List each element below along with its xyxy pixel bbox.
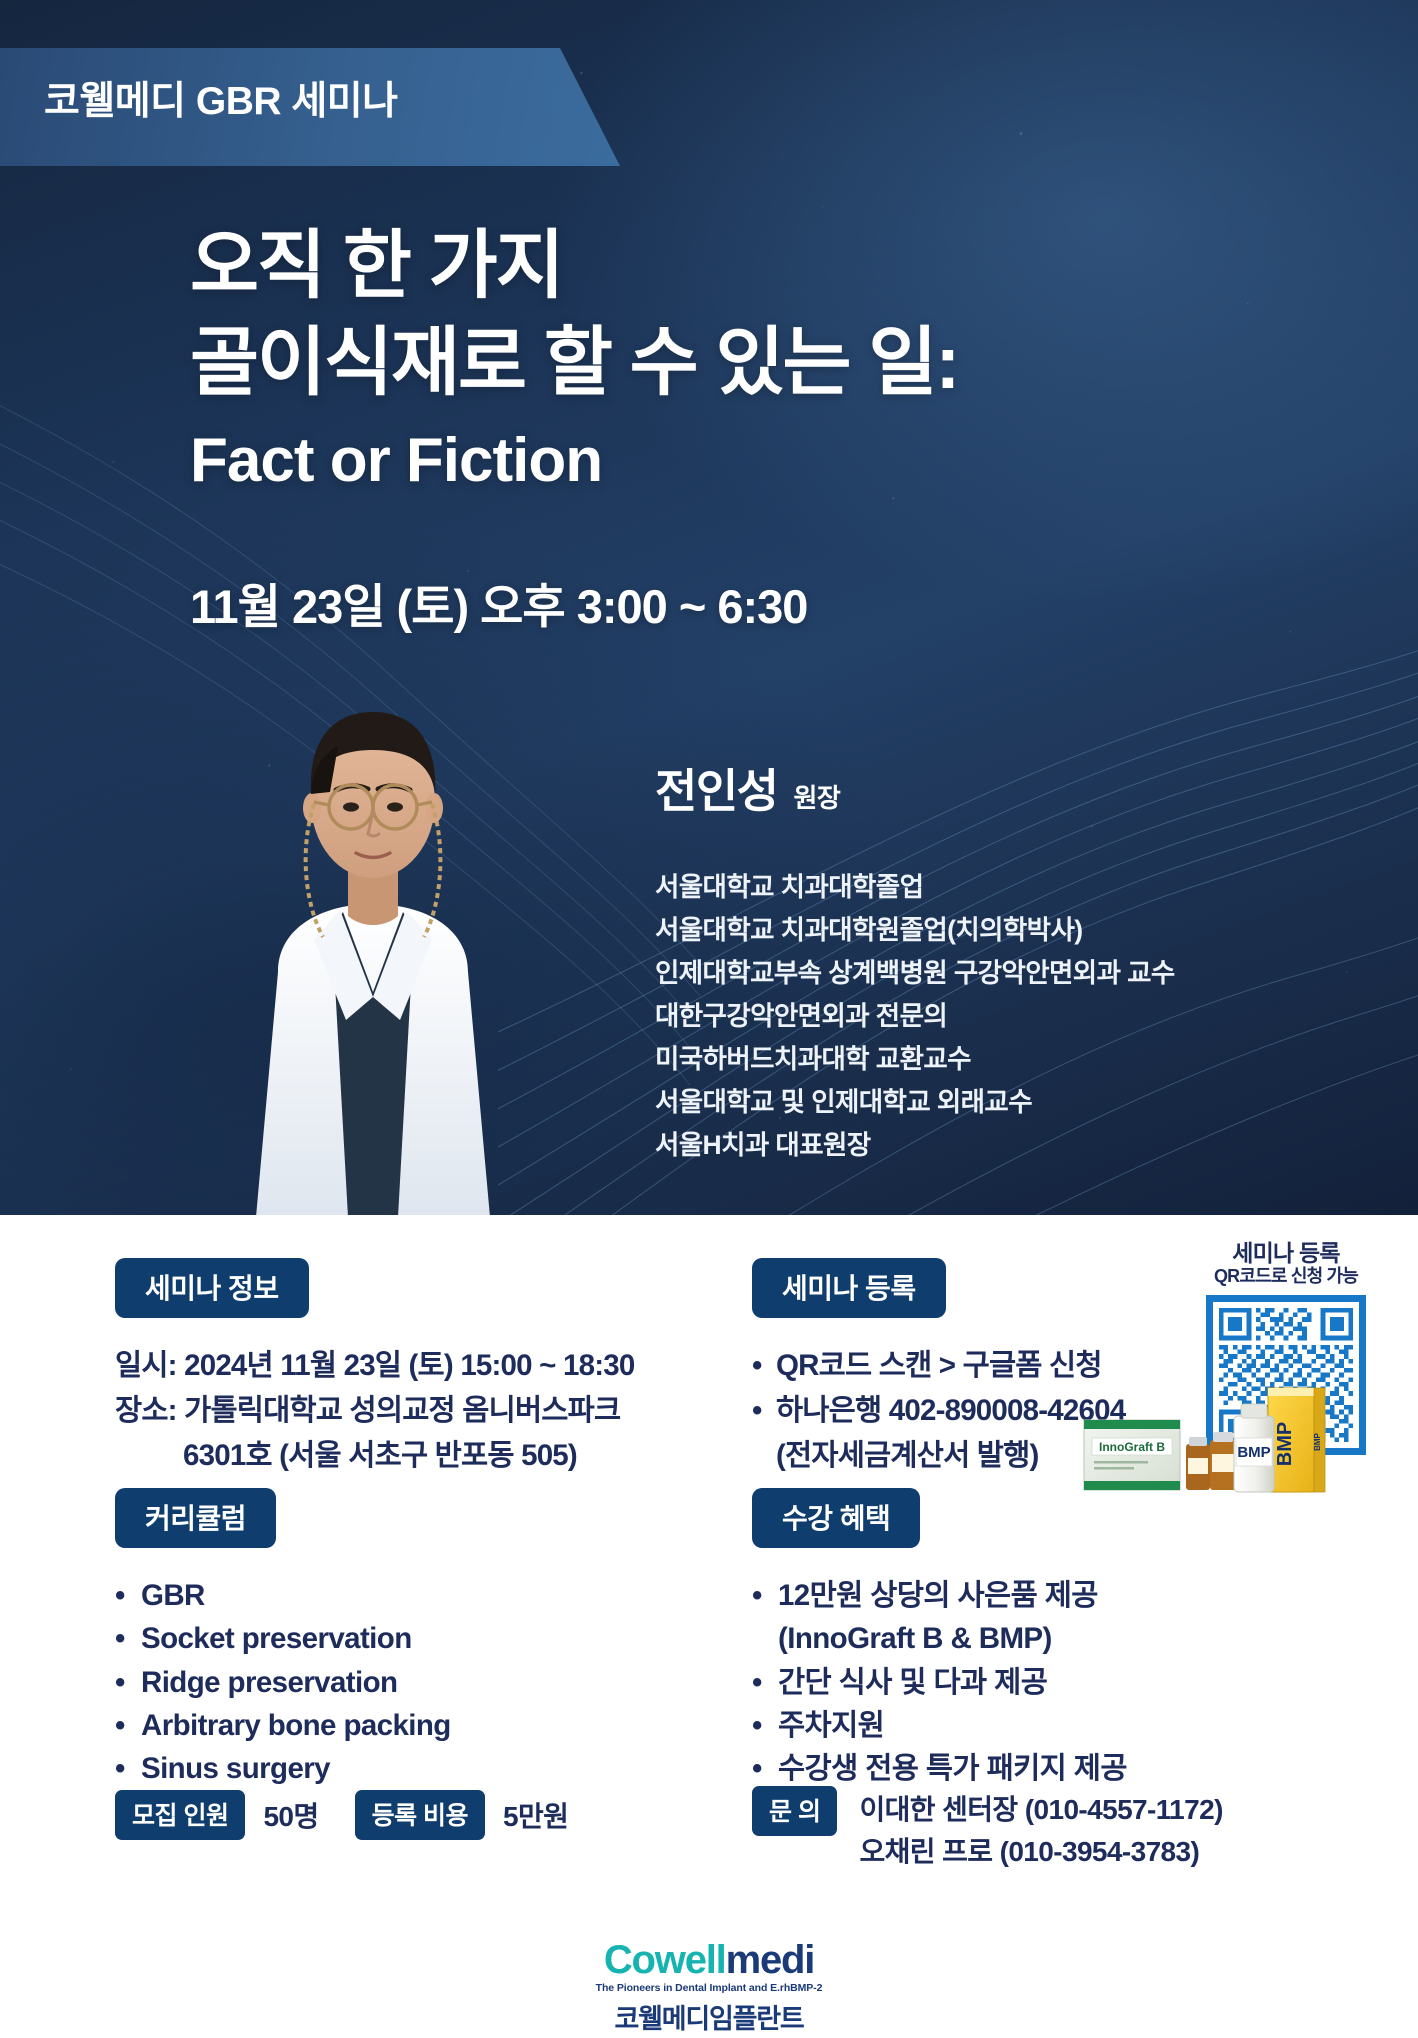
registration-lines: • QR코드 스캔 > 구글폼 신청 • 하나은행 402-890008-426…: [752, 1344, 1125, 1478]
poster-date-time: 11월 23일 (토) 오후 3:00 ~ 6:30: [190, 568, 807, 637]
speaker-profile: 전인성 원장 서울대학교 치과대학졸업 서울대학교 치과대학원졸업(치의학박사)…: [655, 755, 1175, 1166]
benefits-item-label: 주차지원: [778, 1704, 884, 1747]
curriculum-item: • Ridge preservation: [115, 1661, 451, 1704]
credential-item: 대한구강악안면외과 전문의: [655, 995, 1175, 1038]
poster-title-line-1: 오직 한 가지: [190, 228, 563, 303]
svg-text:BMP: BMP: [1313, 1432, 1322, 1450]
benefits-subnote: (InnoGraft B & BMP): [752, 1617, 1127, 1660]
bmp-vials: [1186, 1432, 1236, 1490]
registration-item-label: QR코드 스캔 > 구글폼 신청: [776, 1344, 1102, 1389]
benefits-item-label: 12만원 상당의 사은품 제공: [778, 1574, 1098, 1617]
seminar-venue-line: 장소: 가톨릭대학교 성의교정 옴니버스파크: [115, 1389, 634, 1434]
seminar-info-heading: 세미나 정보: [115, 1258, 309, 1318]
registration-heading: 세미나 등록: [752, 1258, 946, 1318]
speaker-name-row: 전인성 원장: [655, 755, 1175, 821]
capacity-badge-value: 50명: [263, 1795, 318, 1835]
curriculum-item: • Sinus surgery: [115, 1747, 451, 1790]
speaker-photo: [218, 672, 528, 1215]
badges-row: 모집 인원 50명 등록 비용 5만원: [115, 1790, 586, 1840]
curriculum-item-label: Arbitrary bone packing: [141, 1704, 451, 1747]
bullet-icon: •: [115, 1704, 141, 1747]
registration-subnote-label: (전자세금계산서 발행): [776, 1434, 1039, 1479]
credential-item: 미국하버드치과대학 교환교수: [655, 1038, 1175, 1081]
curriculum-item: • Arbitrary bone packing: [115, 1704, 451, 1747]
bullet-icon: •: [752, 1574, 778, 1617]
fee-badge-label: 등록 비용: [355, 1790, 485, 1840]
bmp-bottle: BMP: [1234, 1404, 1274, 1492]
brand-logo-wordmark: Cowellmedi: [0, 1940, 1418, 1980]
curriculum-item: • Socket preservation: [115, 1617, 451, 1660]
brand-logo-korean: 코웰메디임플란트: [0, 1997, 1418, 2036]
registration-item-label: 하나은행 402-890008-42604: [776, 1389, 1125, 1434]
benefits-item: • 12만원 상당의 사은품 제공: [752, 1574, 1127, 1617]
brand-tagline: The Pioneers in Dental Implant and E.rhB…: [0, 1982, 1418, 1994]
bullet-icon: •: [752, 1344, 776, 1389]
svg-text:BMP: BMP: [1237, 1444, 1270, 1461]
benefits-item-label: 간단 식사 및 다과 제공: [778, 1661, 1047, 1704]
credential-item: 서울대학교 치과대학졸업: [655, 866, 1175, 909]
contact-person-2[interactable]: 오채린 프로 (010-3954-3783): [859, 1831, 1222, 1873]
curriculum-block: 커리큘럼 • GBR • Socket preservation • Ridge…: [115, 1488, 451, 1791]
brand-logo-cowell: Cowell: [604, 1938, 726, 1982]
qr-label-line-2: QR코드로 신청 가능: [1196, 1266, 1376, 1288]
registration-subnote: (전자세금계산서 발행): [752, 1434, 1125, 1479]
registration-item: • 하나은행 402-890008-42604: [752, 1389, 1125, 1434]
poster-root: 코웰메디 GBR 세미나 오직 한 가지 골이식재로 할 수 있는 일: Fac…: [0, 0, 1418, 2038]
curriculum-item: • GBR: [115, 1574, 451, 1617]
innograft-box: InnoGraft B: [1084, 1420, 1180, 1490]
benefits-item: • 간단 식사 및 다과 제공: [752, 1661, 1127, 1704]
seminar-address-line: 6301호 (서울 서초구 반포동 505): [115, 1434, 634, 1479]
seminar-date-line: 일시: 2024년 11월 23일 (토) 15:00 ~ 18:30: [115, 1344, 634, 1389]
svg-text:InnoGraft B: InnoGraft B: [1099, 1440, 1165, 1454]
benefits-item: • 수강생 전용 특가 패키지 제공: [752, 1747, 1127, 1790]
seminar-info-block: 세미나 정보 일시: 2024년 11월 23일 (토) 15:00 ~ 18:…: [115, 1258, 634, 1478]
capacity-badge-label: 모집 인원: [115, 1790, 245, 1840]
hero-section: 코웰메디 GBR 세미나 오직 한 가지 골이식재로 할 수 있는 일: Fac…: [0, 0, 1418, 1215]
product-image: InnoGraft B BMP BMP BMP: [1082, 1382, 1327, 1512]
fee-badge-value: 5만원: [503, 1795, 568, 1835]
curriculum-item-label: Sinus surgery: [141, 1747, 330, 1790]
contact-lines: 이대한 센터장 (010-4557-1172) 오채린 프로 (010-3954…: [859, 1786, 1222, 1873]
poster-title-line-2: 골이식재로 할 수 있는 일:: [190, 325, 958, 400]
curriculum-list: • GBR • Socket preservation • Ridge pres…: [115, 1574, 451, 1791]
speaker-name: 전인성: [655, 755, 777, 821]
bullet-icon: •: [115, 1617, 141, 1660]
poster-title-english: Fact or Fiction: [190, 430, 602, 492]
registration-block: 세미나 등록 • QR코드 스캔 > 구글폼 신청 • 하나은행 402-890…: [752, 1258, 1125, 1478]
seminar-info-lines: 일시: 2024년 11월 23일 (토) 15:00 ~ 18:30 장소: …: [115, 1344, 634, 1478]
speaker-role: 원장: [793, 778, 840, 815]
bullet-icon: •: [752, 1704, 778, 1747]
bullet-icon: •: [115, 1661, 141, 1704]
credential-item: 서울대학교 및 인제대학교 외래교수: [655, 1081, 1175, 1124]
bullet-icon: •: [115, 1574, 141, 1617]
footer-logo: Cowellmedi The Pioneers in Dental Implan…: [0, 1940, 1418, 2036]
bullet-icon: •: [752, 1389, 776, 1434]
benefits-subnote-label: (InnoGraft B & BMP): [778, 1617, 1052, 1660]
contact-person-1[interactable]: 이대한 센터장 (010-4557-1172): [859, 1789, 1222, 1831]
credential-item: 서울H치과 대표원장: [655, 1124, 1175, 1167]
svg-text:BMP: BMP: [1274, 1422, 1296, 1466]
curriculum-item-label: Ridge preservation: [141, 1661, 397, 1704]
contact-label: 문 의: [752, 1786, 837, 1836]
benefits-block: 수강 혜택 • 12만원 상당의 사은품 제공 (InnoGraft B & B…: [752, 1488, 1127, 1791]
contact-block: 문 의 이대한 센터장 (010-4557-1172) 오채린 프로 (010-…: [752, 1786, 1223, 1873]
header-band-title: 코웰메디 GBR 세미나: [44, 70, 398, 126]
brand-logo-medi: medi: [726, 1938, 815, 1982]
credential-item: 인제대학교부속 상계백병원 구강악안면외과 교수: [655, 952, 1175, 995]
bullet-icon: •: [115, 1747, 141, 1790]
credential-item: 서울대학교 치과대학원졸업(치의학박사): [655, 909, 1175, 952]
bmp-box: BMP BMP: [1268, 1388, 1325, 1492]
curriculum-heading: 커리큘럼: [115, 1488, 276, 1548]
curriculum-item-label: Socket preservation: [141, 1617, 412, 1660]
bullet-icon: •: [752, 1747, 778, 1790]
speaker-credentials-list: 서울대학교 치과대학졸업 서울대학교 치과대학원졸업(치의학박사) 인제대학교부…: [655, 866, 1175, 1166]
benefits-list: • 12만원 상당의 사은품 제공 (InnoGraft B & BMP) • …: [752, 1574, 1127, 1791]
qr-label-line-1: 세미나 등록: [1196, 1240, 1376, 1266]
benefits-heading: 수강 혜택: [752, 1488, 920, 1548]
benefits-item-label: 수강생 전용 특가 패키지 제공: [778, 1747, 1127, 1790]
curriculum-item-label: GBR: [141, 1574, 205, 1617]
registration-item: • QR코드 스캔 > 구글폼 신청: [752, 1344, 1125, 1389]
benefits-item: • 주차지원: [752, 1704, 1127, 1747]
bullet-icon: •: [752, 1661, 778, 1704]
